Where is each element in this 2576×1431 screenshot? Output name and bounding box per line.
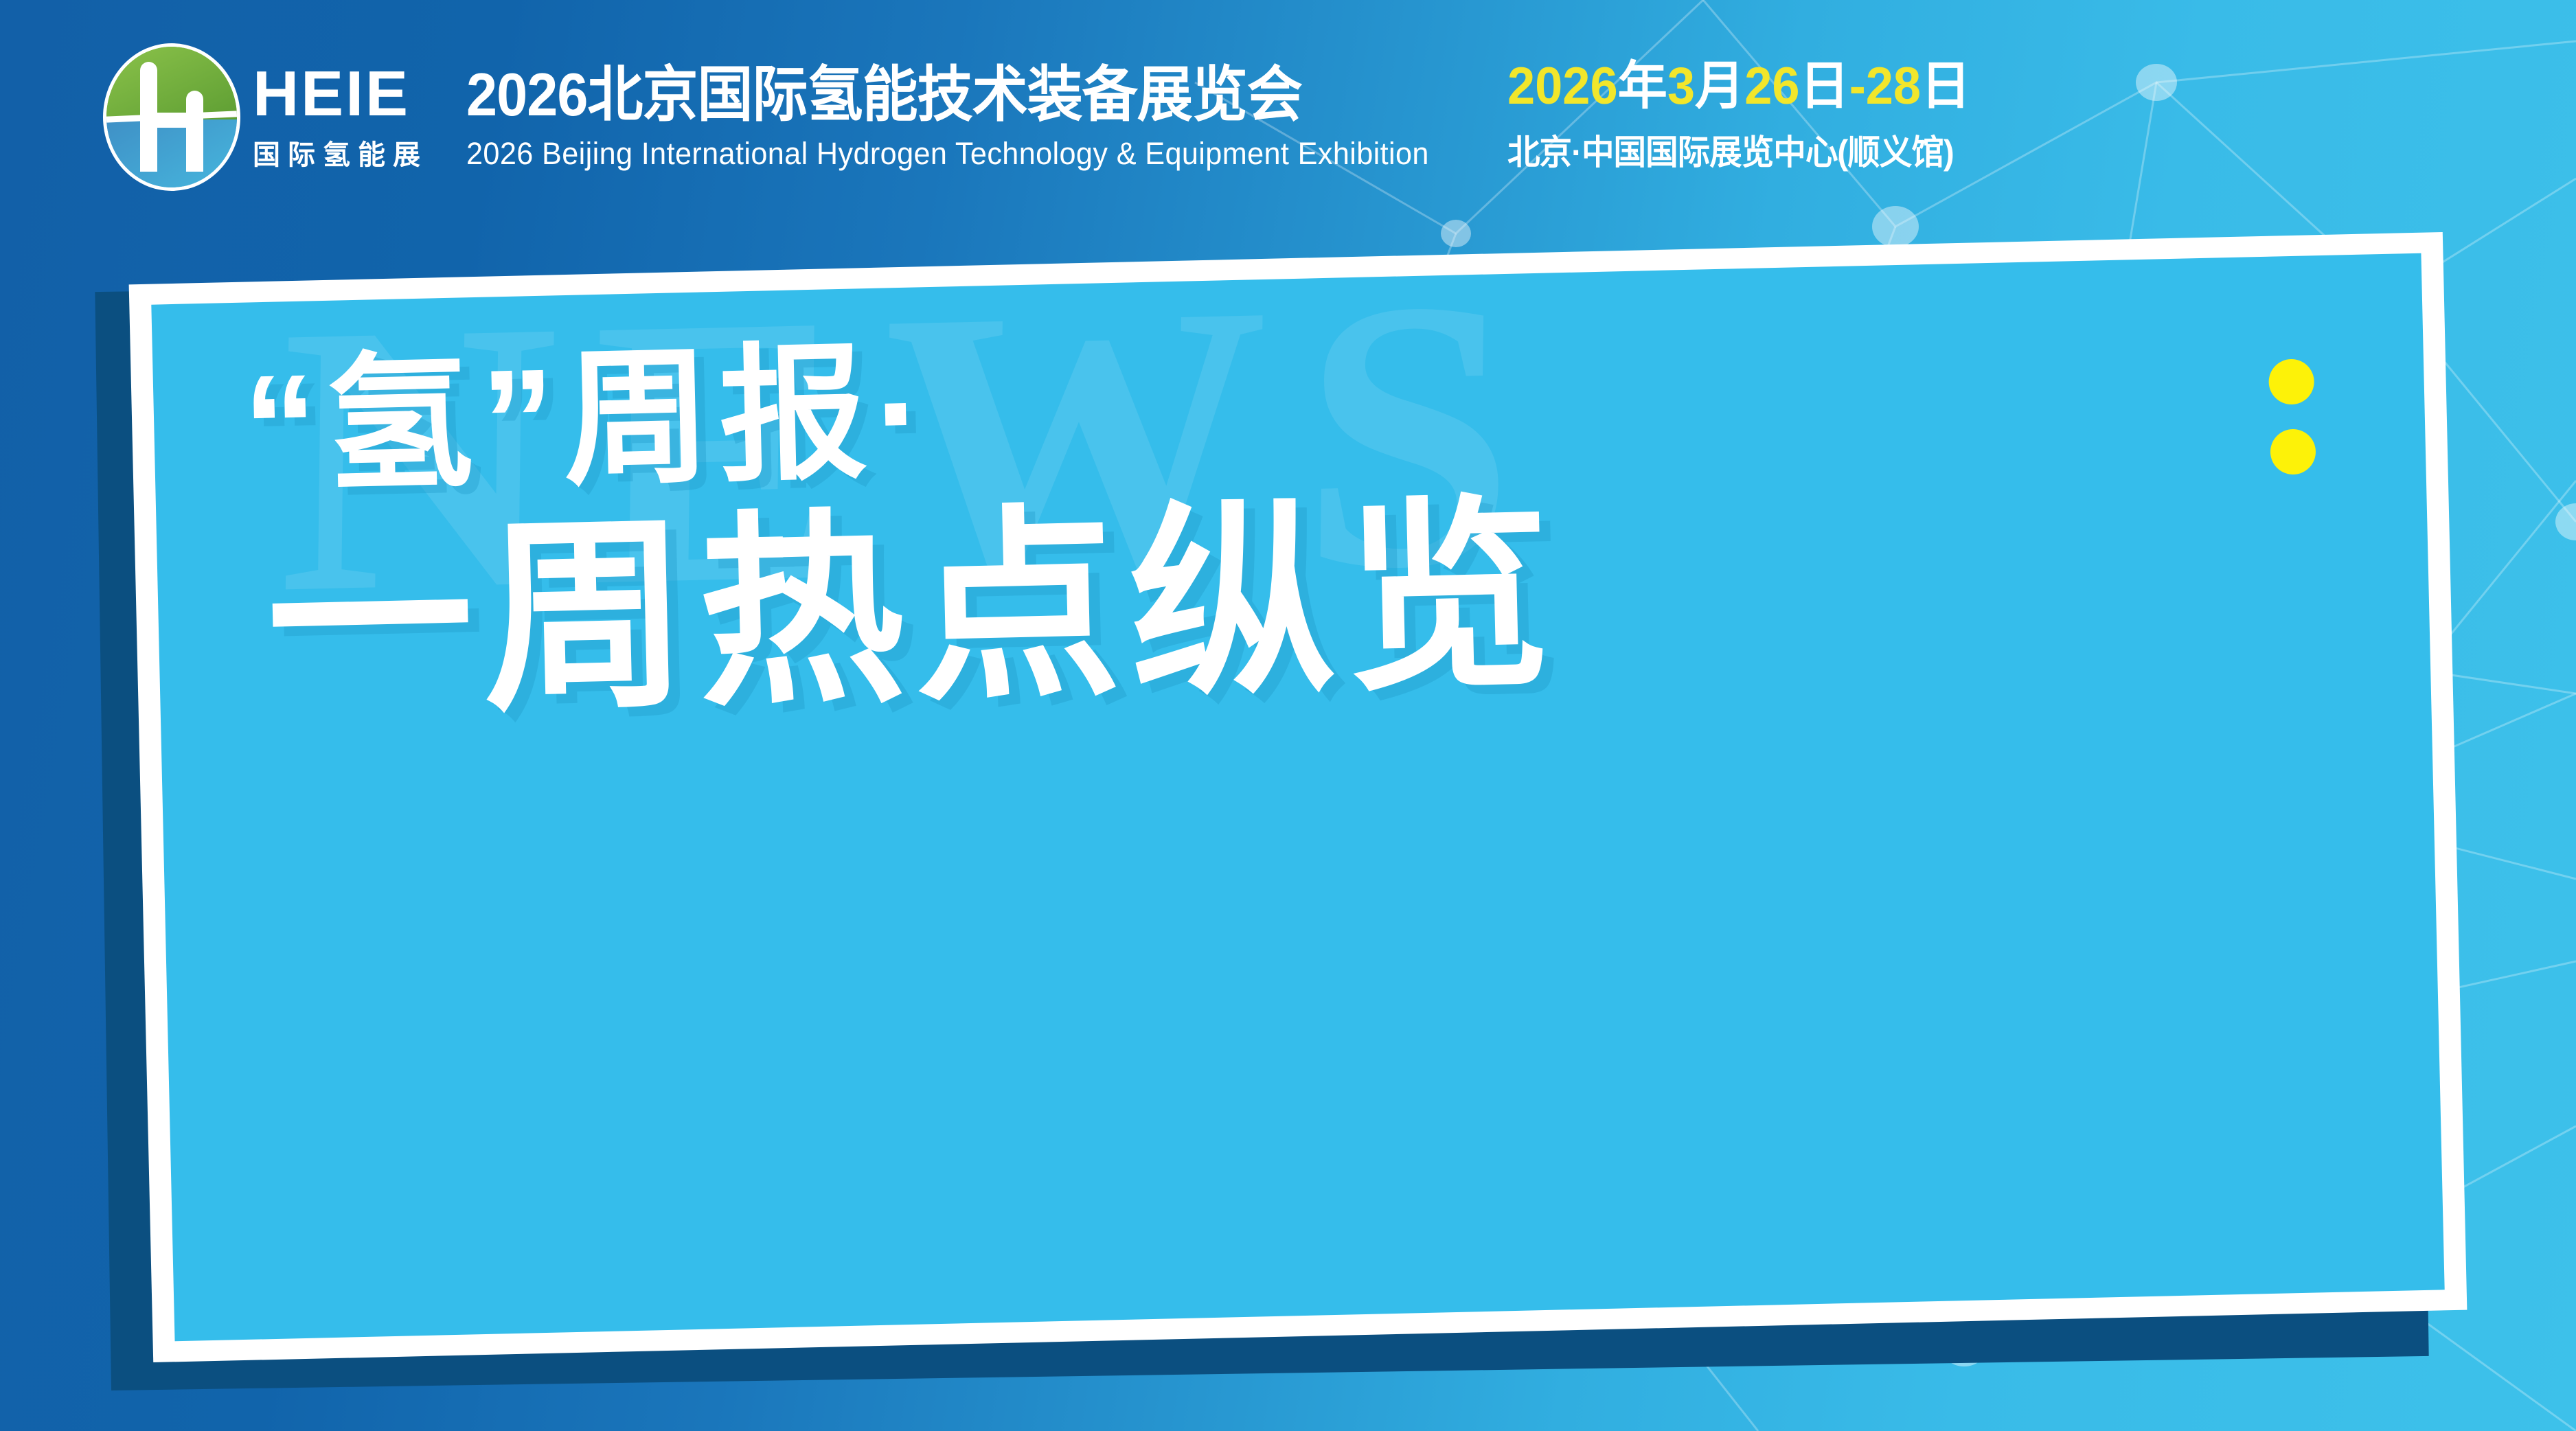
logo-h-right-stem xyxy=(186,91,203,172)
date-month-unit: 月 xyxy=(1695,57,1744,115)
logo-oval-shape xyxy=(103,43,240,191)
date-day-start: 26 xyxy=(1744,57,1799,115)
exhibition-venue: 北京·中国国际展览中心(顺义馆) xyxy=(1507,125,1970,174)
card-headline-line-2: 一周热点纵览 xyxy=(264,470,2430,729)
exhibition-date: 2026年3月26日-28日 xyxy=(1507,59,1970,115)
yellow-dots-decoration xyxy=(2268,358,2316,474)
date-day-unit-1: 日 xyxy=(1800,57,1849,115)
card-headline-line-1: “氢”周报· xyxy=(242,301,2426,505)
exhibition-title-english: 2026 Beijing International Hydrogen Tech… xyxy=(466,136,1429,172)
page-header: HEIE 国际氢能展 2026北京国际氢能技术装备展览会 2026 Beijin… xyxy=(0,0,2576,233)
logo-letter-h-icon xyxy=(140,62,203,172)
date-year: 2026 xyxy=(1507,57,1618,115)
logo-abbreviation: HEIE xyxy=(253,62,428,126)
logo-wordmark: HEIE 国际氢能展 xyxy=(253,62,428,172)
date-day-end: 28 xyxy=(1866,57,1921,115)
heie-oval-logo-icon xyxy=(103,43,240,191)
exhibition-title-chinese: 2026北京国际氢能技术装备展览会 xyxy=(466,62,1389,127)
logo-h-crossbar xyxy=(140,113,203,128)
exhibition-title-block: 2026北京国际氢能技术装备展览会 2026 Beijing Internati… xyxy=(466,62,1469,171)
logo-chinese-name: 国际氢能展 xyxy=(253,133,428,172)
date-dash: - xyxy=(1849,57,1866,115)
yellow-dot-top xyxy=(2268,358,2314,404)
card-white-frame: NEWS “氢”周报· 一周热点纵览 xyxy=(129,232,2467,1362)
news-card: NEWS “氢”周报· 一周热点纵览 xyxy=(103,275,2438,1387)
yellow-dot-bottom xyxy=(2270,428,2316,474)
card-headline-block: “氢”周报· 一周热点纵览 xyxy=(151,253,2444,1342)
date-month: 3 xyxy=(1667,57,1695,115)
date-day-unit-2: 日 xyxy=(1921,57,1970,115)
date-year-unit: 年 xyxy=(1618,57,1667,115)
exhibition-meta-block: 2026年3月26日-28日 北京·中国国际展览中心(顺义馆) xyxy=(1507,59,1995,175)
card-inner-panel: NEWS “氢”周报· 一周热点纵览 xyxy=(151,253,2444,1342)
